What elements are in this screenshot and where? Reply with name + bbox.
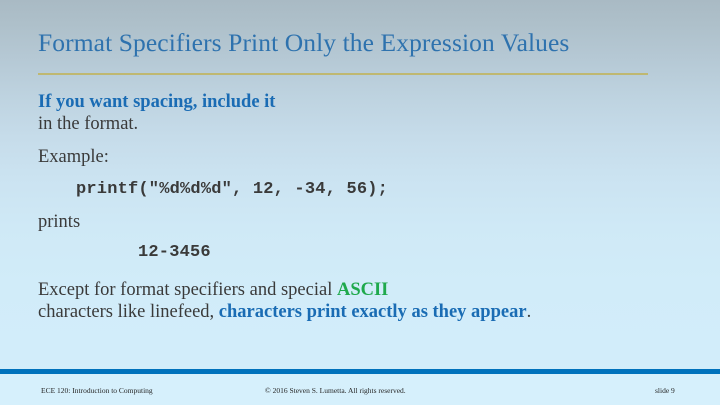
slide-canvas: Format Specifiers Print Only the Express… <box>0 0 720 405</box>
code-line: printf("%d%d%d", 12, -34, 56); <box>38 177 678 201</box>
footer-course-label: ECE 120: Introduction to Computing <box>41 386 153 395</box>
spacing-rest-text: in the format. <box>38 114 138 134</box>
except-part1-text: Except for format specifiers and special <box>38 280 337 300</box>
ascii-highlight: ASCII <box>337 280 388 300</box>
footer-copyright-label: © 2016 Steven S. Lumetta. All rights res… <box>265 386 406 395</box>
paragraph-except: Except for format specifiers and special… <box>38 279 678 323</box>
except-period-text: . <box>527 302 532 322</box>
title-divider <box>38 73 648 75</box>
slide-body: If you want spacing, include it in the f… <box>38 88 678 323</box>
output-line: 12-3456 <box>38 240 678 264</box>
prints-label: prints <box>38 211 678 233</box>
except-part2-text: characters like linefeed, <box>38 302 219 322</box>
output-text: 12-3456 <box>138 243 211 262</box>
spacing-emphasis-text: If you want spacing, include it <box>38 92 275 112</box>
example-label: Example: <box>38 146 678 168</box>
paragraph-spacing: If you want spacing, include it in the f… <box>38 91 678 135</box>
except-emphasis-text: characters print exactly as they appear <box>219 302 527 322</box>
page-title: Format Specifiers Print Only the Express… <box>38 28 686 58</box>
title-block: Format Specifiers Print Only the Express… <box>38 28 686 58</box>
code-text: printf("%d%d%d", 12, -34, 56); <box>76 180 388 199</box>
footer-slide-number: slide 9 <box>655 386 675 395</box>
